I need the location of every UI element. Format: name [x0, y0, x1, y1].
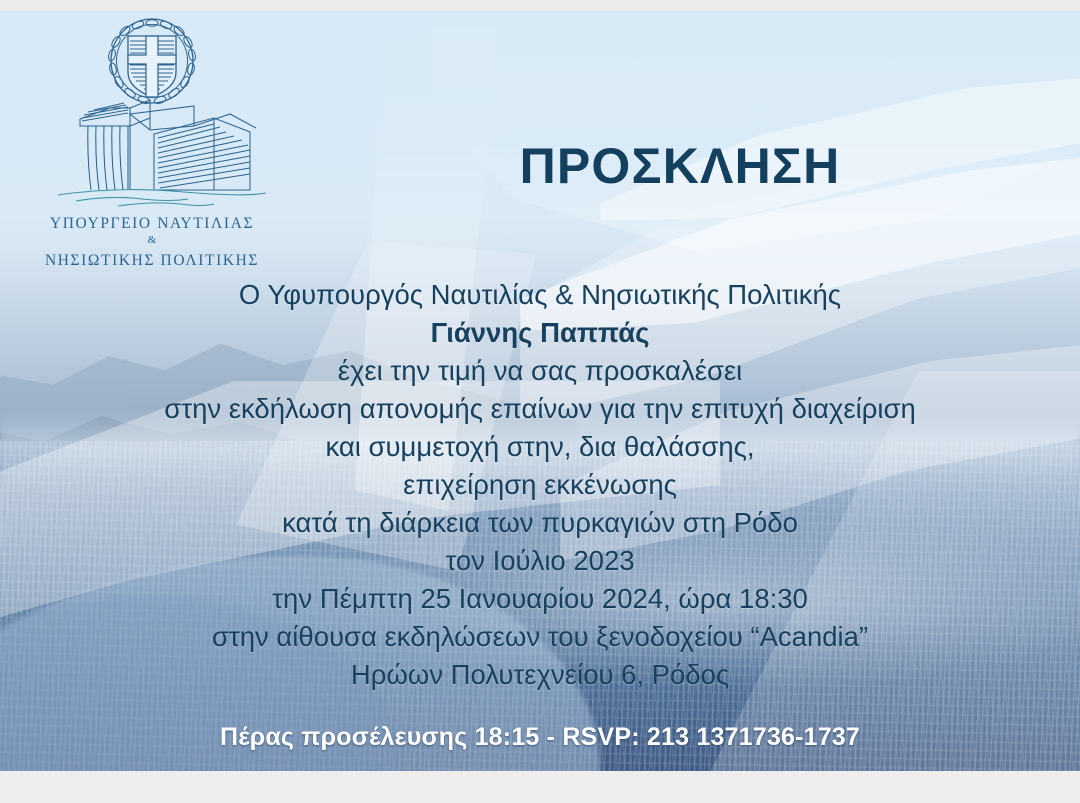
body-line-host-title: Ο Υφυπουργός Ναυτιλίας & Νησιωτικής Πολι… — [40, 276, 1040, 314]
top-margin-strip — [0, 0, 1080, 11]
ministry-logo-mark — [18, 14, 286, 210]
poster-content: ΥΠΟΥΡΓΕΙΟ ΝΑΥΤΙΛΙΑΣ & ΝΗΣΙΩΤΙΚΗΣ ΠΟΛΙΤΙΚ… — [0, 0, 1080, 803]
ministry-building-mark — [80, 100, 256, 190]
body-line-host-name: Γιάννης Παππάς — [40, 314, 1040, 352]
body-line-context-1: κατά τη διάρκεια των πυρκαγιών στη Ρόδο — [40, 504, 1040, 542]
water-ripple-lines — [58, 190, 266, 206]
ministry-logo-ampersand: & — [18, 234, 286, 246]
body-line-event-3: επιχείρηση εκκένωσης — [40, 466, 1040, 504]
ministry-logo-line1: ΥΠΟΥΡΓΕΙΟ ΝΑΥΤΙΛΙΑΣ — [18, 214, 286, 234]
greek-coat-of-arms — [107, 19, 196, 105]
body-line-address: Ηρώων Πολυτεχνείου 6, Ρόδος — [40, 656, 1040, 694]
bottom-margin-strip — [0, 771, 1080, 803]
rsvp-line: Πέρας προσέλευσης 18:15 - RSVP: 213 1371… — [40, 723, 1040, 752]
body-line-event-1: στην εκδήλωση απονομής επαίνων για την ε… — [40, 390, 1040, 428]
body-line-event-2: και συμμετοχή στην, δια θαλάσσης, — [40, 428, 1040, 466]
body-line-context-2: τον Ιούλιο 2023 — [40, 542, 1040, 580]
ministry-logo-line2: ΝΗΣΙΩΤΙΚΗΣ ΠΟΛΙΤΙΚΗΣ — [18, 251, 286, 271]
page-title: ΠΡΟΣΚΛΗΣΗ — [300, 137, 1060, 195]
ministry-logo: ΥΠΟΥΡΓΕΙΟ ΝΑΥΤΙΛΙΑΣ & ΝΗΣΙΩΤΙΚΗΣ ΠΟΛΙΤΙΚ… — [18, 14, 286, 271]
body-line-honour: έχει την τιμή να σας προσκαλέσει — [40, 352, 1040, 390]
body-line-venue: στην αίθουσα εκδηλώσεων του ξενοδοχείου … — [40, 618, 1040, 656]
body-line-datetime: την Πέμπτη 25 Ιανουαρίου 2024, ώρα 18:30 — [40, 580, 1040, 618]
invitation-body: Ο Υφυπουργός Ναυτιλίας & Νησιωτικής Πολι… — [40, 276, 1040, 694]
invitation-poster: ΥΠΟΥΡΓΕΙΟ ΝΑΥΤΙΛΙΑΣ & ΝΗΣΙΩΤΙΚΗΣ ΠΟΛΙΤΙΚ… — [0, 0, 1080, 803]
